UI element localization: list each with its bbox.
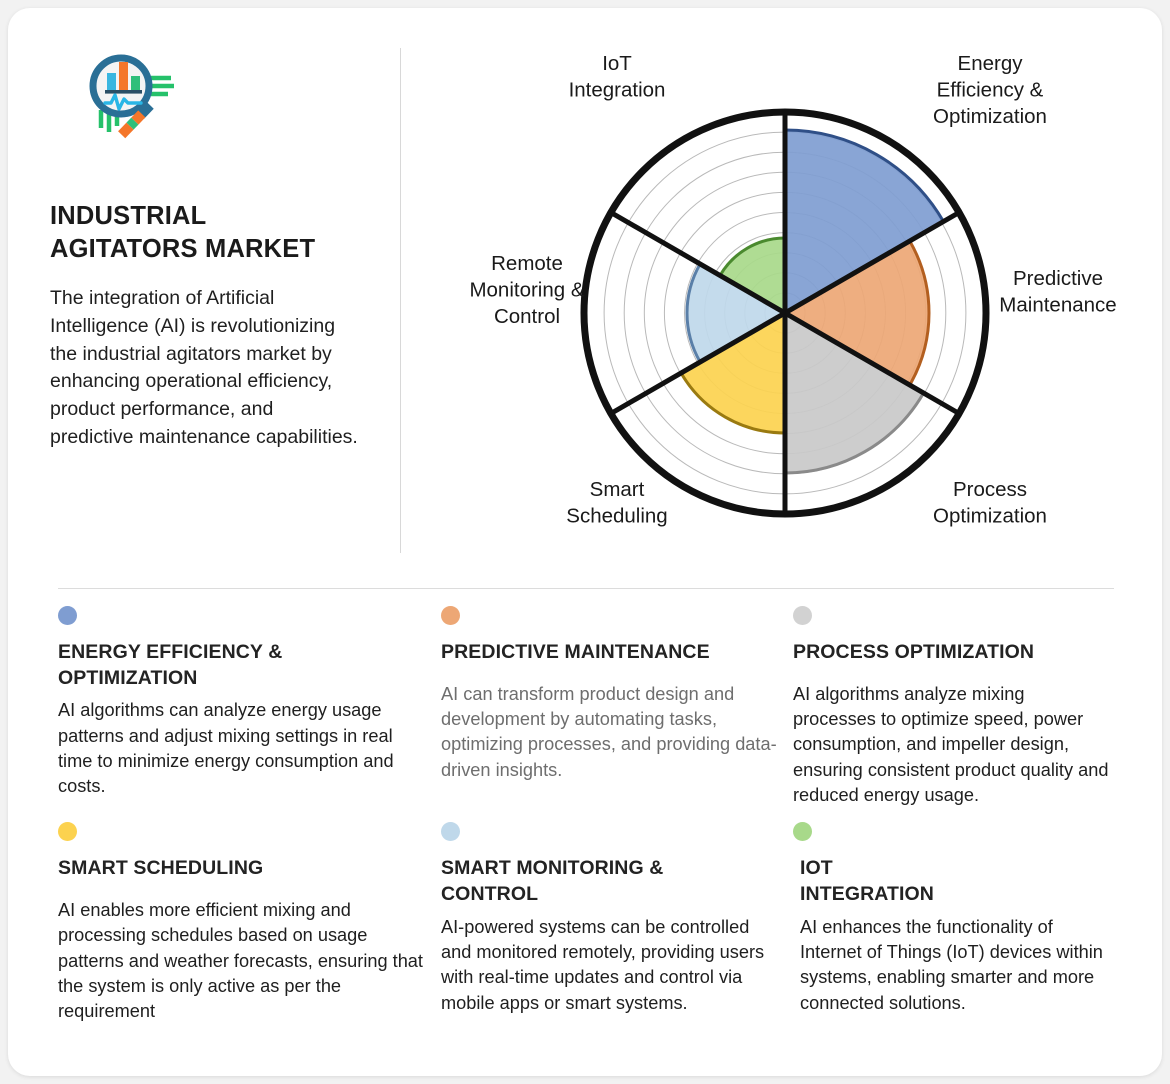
legend-item-title: IOT INTEGRATION: [793, 856, 1110, 907]
legend-grid: ENERGY EFFICIENCY & OPTIMIZATIONAI algor…: [58, 606, 1124, 1024]
infographic-card: INDUSTRIAL AGITATORS MARKET The integrat…: [8, 8, 1162, 1076]
intro-paragraph: The integration of Artificial Intelligen…: [50, 285, 362, 451]
legend-color-dot: [441, 822, 460, 841]
legend-item-smart-scheduling[interactable]: SMART SCHEDULINGAI enables more efficien…: [58, 822, 441, 1024]
legend-color-dot: [441, 606, 460, 625]
legend-item-body: AI-powered systems can be controlled and…: [441, 915, 779, 1016]
legend-color-dot: [58, 822, 77, 841]
legend-color-dot: [58, 606, 77, 625]
legend-item-body: AI enhances the functionality of Interne…: [793, 915, 1110, 1016]
legend-item-body: AI algorithms analyze mixing processes t…: [793, 682, 1110, 808]
legend-item-iot-integration[interactable]: IOT INTEGRATIONAI enhances the functiona…: [793, 822, 1124, 1024]
left-panel: INDUSTRIAL AGITATORS MARKET The integrat…: [50, 48, 380, 451]
legend-item-title: PROCESS OPTIMIZATION: [793, 640, 1110, 666]
legend-item-body: AI algorithms can analyze energy usage p…: [58, 698, 427, 799]
legend-item-energy-efficiency-optimization[interactable]: ENERGY EFFICIENCY & OPTIMIZATIONAI algor…: [58, 606, 441, 808]
axis-label-1: EnergyEfficiency &Optimization: [933, 52, 1047, 128]
axis-label-5: RemoteMonitoring &Control: [469, 252, 584, 328]
legend-item-title: PREDICTIVE MAINTENANCE: [441, 640, 779, 666]
horizontal-divider: [58, 588, 1114, 589]
vertical-divider: [400, 48, 401, 553]
axis-label-2: PredictiveMaintenance: [999, 267, 1116, 317]
legend-color-dot: [793, 606, 812, 625]
legend-item-predictive-maintenance[interactable]: PREDICTIVE MAINTENANCEAI can transform p…: [441, 606, 793, 808]
top-section: INDUSTRIAL AGITATORS MARKET The integrat…: [8, 8, 1162, 573]
market-research-magnifier-icon: [74, 48, 184, 148]
legend-color-dot: [793, 822, 812, 841]
axis-label-6: IoTIntegration: [569, 52, 666, 102]
axis-label-3: ProcessOptimization: [933, 478, 1047, 528]
chart-sectors: [681, 130, 943, 473]
page-title: INDUSTRIAL AGITATORS MARKET: [50, 200, 380, 265]
legend-item-process-optimization[interactable]: PROCESS OPTIMIZATIONAI algorithms analyz…: [793, 606, 1124, 808]
legend-item-body: AI enables more efficient mixing and pro…: [58, 898, 427, 1024]
axis-label-4: SmartScheduling: [566, 478, 667, 528]
legend-item-title: ENERGY EFFICIENCY & OPTIMIZATION: [58, 640, 427, 691]
legend-item-title: SMART MONITORING & CONTROL: [441, 856, 779, 907]
legend-item-title: SMART SCHEDULING: [58, 856, 427, 882]
legend-item-body: AI can transform product design and deve…: [441, 682, 779, 783]
polar-area-chart: EnergyEfficiency &OptimizationPredictive…: [410, 38, 1150, 558]
polar-area-chart-svg: EnergyEfficiency &OptimizationPredictive…: [410, 38, 1150, 558]
legend-item-smart-monitoring-control[interactable]: SMART MONITORING & CONTROLAI-powered sys…: [441, 822, 793, 1024]
